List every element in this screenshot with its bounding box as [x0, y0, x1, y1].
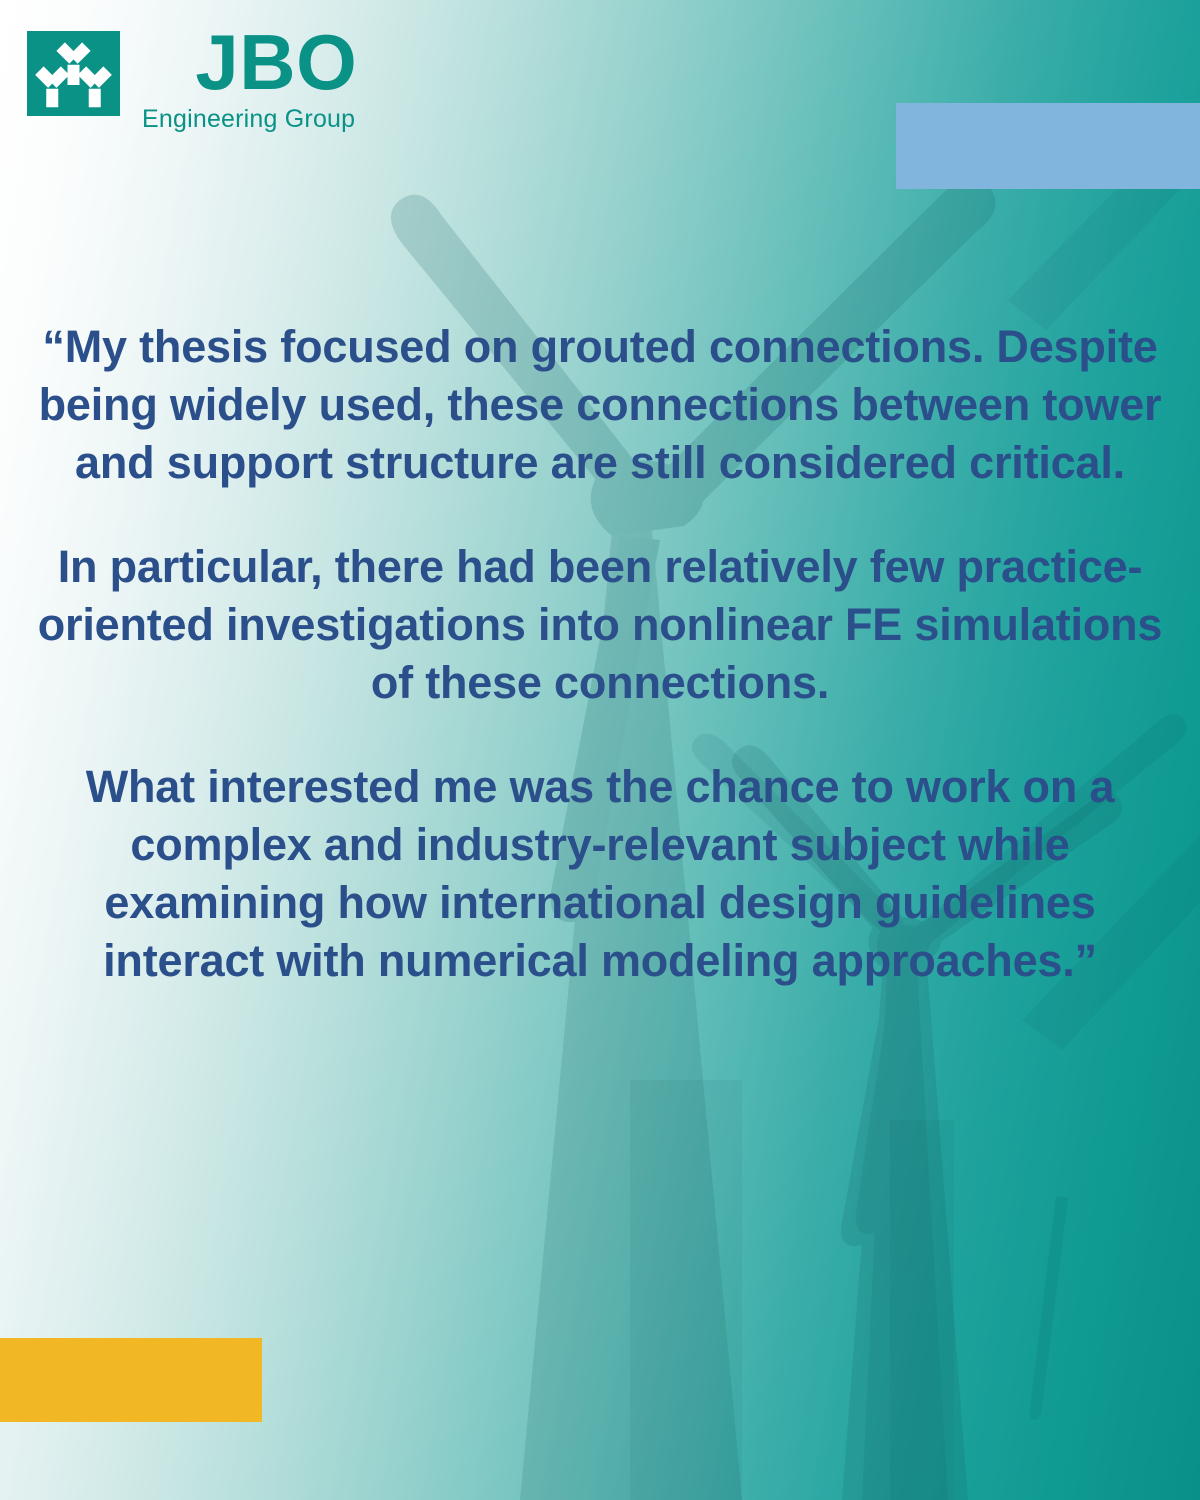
- tower-bands: [630, 1080, 954, 1500]
- jbo-tree-mark-icon: [27, 31, 120, 116]
- logo-text: JBO Engineering Group: [142, 25, 357, 134]
- logo-wordmark: JBO: [195, 25, 357, 99]
- quote-paragraph-3: What interested me was the chance to wor…: [28, 758, 1172, 990]
- jbo-logo[interactable]: JBO Engineering Group: [27, 31, 357, 134]
- quote-block: “My thesis focused on grouted connection…: [28, 318, 1172, 990]
- quote-paragraph-2: In particular, there had been relatively…: [28, 538, 1172, 712]
- yellow-accent-block: [0, 1338, 262, 1422]
- blue-accent-block: [896, 103, 1200, 189]
- quote-paragraph-1: “My thesis focused on grouted connection…: [28, 318, 1172, 492]
- logo-tagline: Engineering Group: [142, 104, 357, 134]
- thin-blade-accent: [1030, 1196, 1069, 1420]
- quote-card: JBO Engineering Group “My thesis focused…: [0, 0, 1200, 1500]
